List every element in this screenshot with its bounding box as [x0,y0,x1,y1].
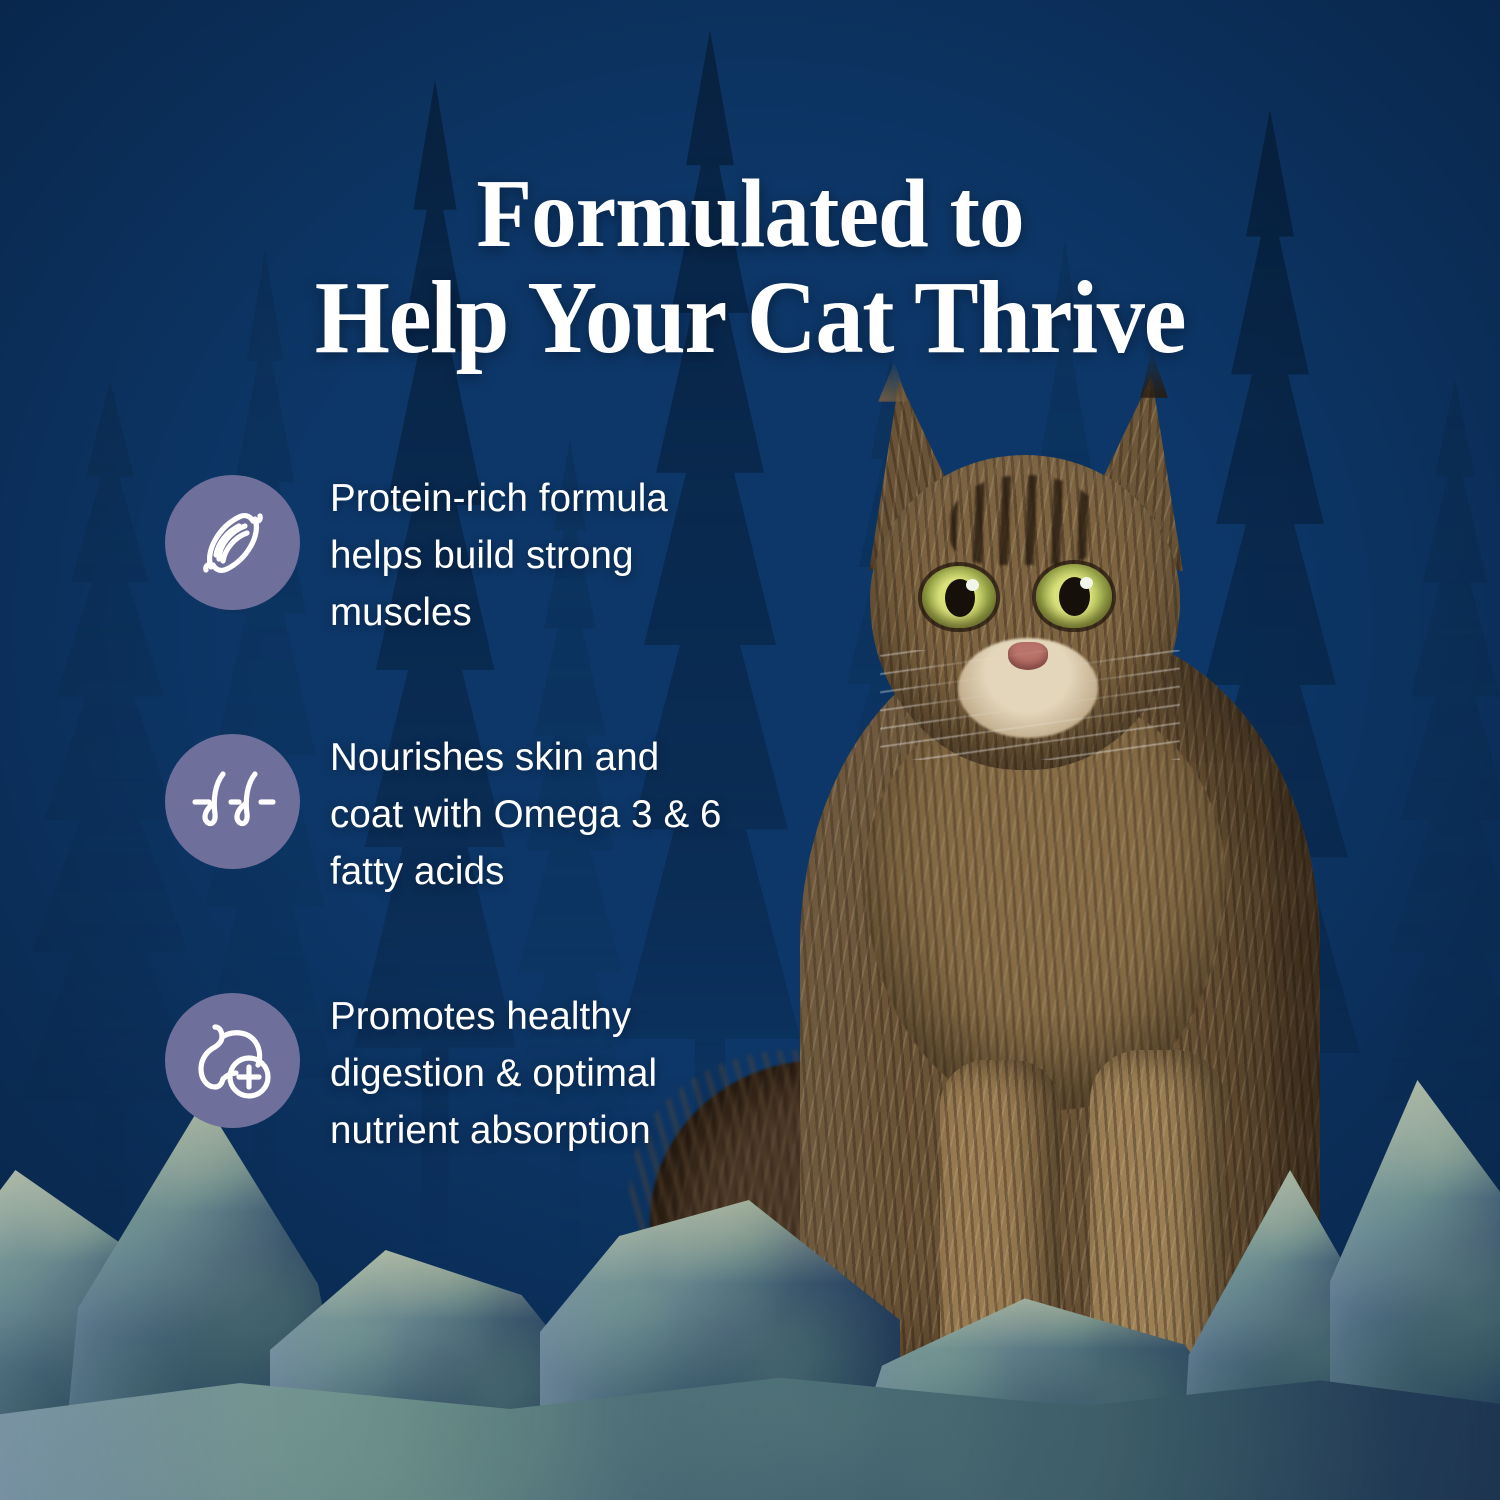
muscle-icon [189,499,277,587]
benefit-icon-badge [165,734,300,869]
benefit-item-protein: Protein-rich formula helps build strong … [165,470,745,641]
hair-follicle-icon [187,756,279,848]
headline-line-2: Help Your Cat Thrive [53,266,1448,370]
page-title: Formulated to Help Your Cat Thrive [53,162,1448,370]
benefit-text: Protein-rich formula helps build strong … [330,470,730,641]
headline-line-1: Formulated to [476,160,1023,268]
cat-eye-highlight-right [1080,577,1093,589]
benefit-text: Promotes healthy digestion & optimal nut… [330,988,730,1159]
cat-whiskers [880,650,1180,760]
benefit-text: Nourishes skin and coat with Omega 3 & 6… [330,729,730,900]
product-feature-banner: Formulated to Help Your Cat Thrive [0,0,1500,1500]
cat-eye-highlight-left [966,579,979,591]
cat-head [840,380,1210,770]
benefit-item-digestion: Promotes healthy digestion & optimal nut… [165,988,745,1159]
benefit-icon-badge [165,993,300,1128]
benefit-list: Protein-rich formula helps build strong … [165,470,745,1247]
rock [0,1370,1500,1500]
stomach-plus-icon [187,1015,279,1107]
benefit-icon-badge [165,475,300,610]
cat-forehead-stripes [950,475,1100,565]
benefit-item-omega: Nourishes skin and coat with Omega 3 & 6… [165,729,745,900]
